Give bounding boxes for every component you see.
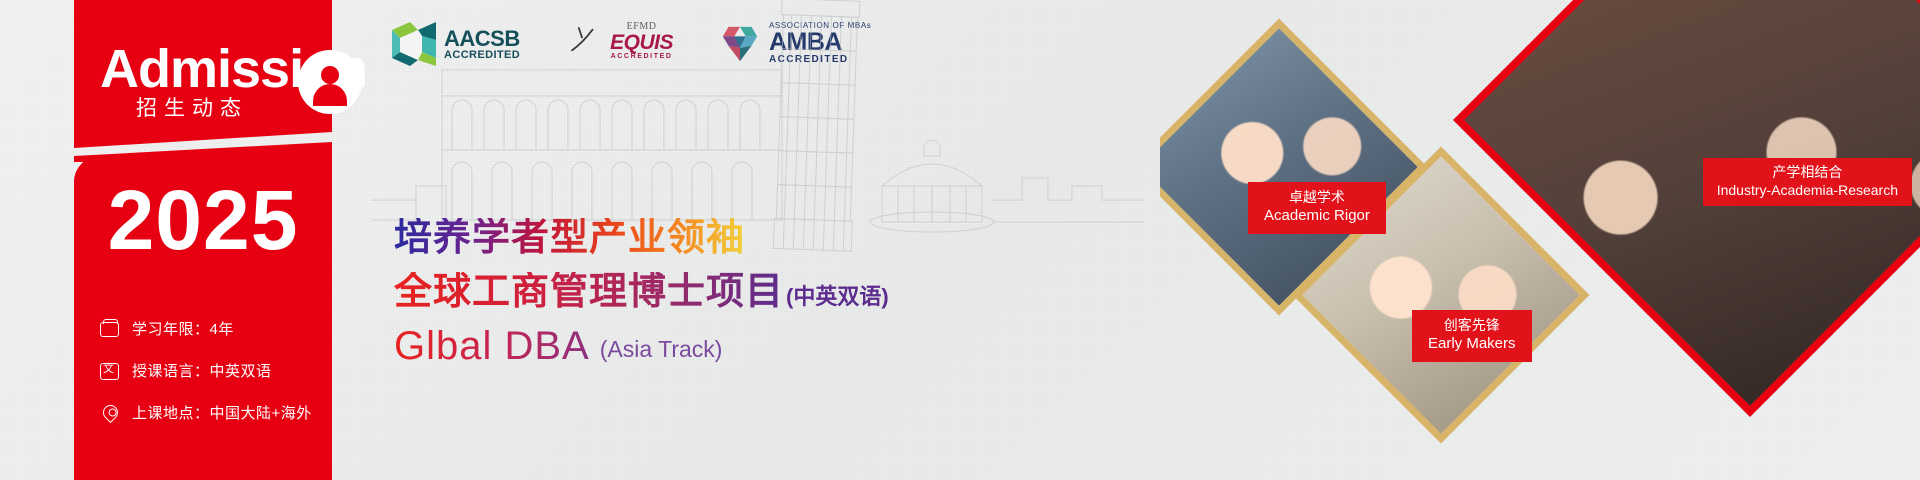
admission-label-cn: 招生动态: [136, 92, 248, 122]
calendar-icon: [100, 319, 122, 339]
badge-early-makers-en: Early Makers: [1428, 335, 1516, 354]
badge-academic-rigor-cn: 卓越学术: [1264, 189, 1370, 207]
badge-industry-academia-en: Industry-Academia-Research: [1717, 182, 1898, 199]
center-content: AACSB ACCREDITED EFMD EQUIS ACCREDITED: [332, 0, 1160, 480]
left-red-panel: Admission 招生动态 2025 学习年限：4年 授课语言：中英双语 上课…: [74, 0, 332, 480]
info-row-duration: 学习年限：4年: [100, 318, 312, 339]
year-label: 2025: [74, 178, 332, 262]
program-title-en-suffix: (Asia Track): [600, 336, 723, 366]
badge-industry-academia-cn: 产学相结合: [1717, 164, 1898, 182]
location-pin-icon: [100, 403, 122, 423]
program-title-cn: 全球工商管理博士项目: [394, 272, 784, 314]
info-row-location-label: 上课地点：中国大陆+海外: [132, 402, 312, 423]
person-circle-icon: [298, 50, 362, 114]
program-info-list: 学习年限：4年 授课语言：中英双语 上课地点：中国大陆+海外: [100, 318, 312, 444]
admission-banner: Admission 招生动态 2025 学习年限：4年 授课语言：中英双语 上课…: [0, 0, 1920, 480]
badge-early-makers: 创客先锋 Early Makers: [1412, 310, 1532, 362]
tagline: 培养学者型产业领袖: [394, 218, 745, 260]
info-row-language: 授课语言：中英双语: [100, 360, 312, 381]
badge-industry-academia: 产学相结合 Industry-Academia-Research: [1703, 158, 1912, 206]
admission-logo: Admission 招生动态: [86, 22, 336, 132]
badge-early-makers-cn: 创客先锋: [1428, 317, 1516, 335]
photo-collage: 产学相结合 Industry-Academia-Research 卓越学术 Ac…: [1160, 0, 1920, 480]
info-row-duration-label: 学习年限：4年: [132, 318, 234, 339]
program-title-cn-suffix: (中英双语): [786, 279, 889, 314]
badge-academic-rigor: 卓越学术 Academic Rigor: [1248, 182, 1386, 234]
language-icon: [100, 361, 122, 381]
headline-block: 培养学者型产业领袖 全球工商管理博士项目 (中英双语) Glbal DBA (A…: [394, 218, 889, 366]
info-row-location: 上课地点：中国大陆+海外: [100, 402, 312, 423]
info-row-language-label: 授课语言：中英双语: [132, 360, 272, 381]
badge-academic-rigor-en: Academic Rigor: [1264, 207, 1370, 226]
program-title-en: Glbal DBA: [394, 326, 590, 366]
